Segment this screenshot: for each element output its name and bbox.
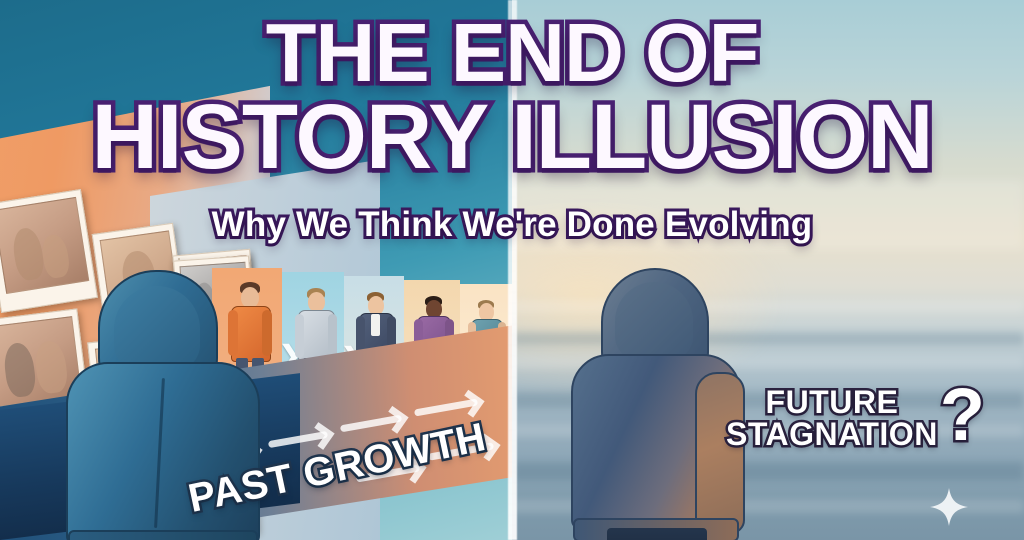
panel-divider bbox=[508, 0, 517, 540]
sparkle-star-icon bbox=[928, 486, 970, 528]
hooded-figure-gazing bbox=[567, 268, 747, 540]
future-panel bbox=[512, 0, 1024, 540]
thumbnail-canvas: ❯ ❯ ❯ bbox=[0, 0, 1024, 540]
horizon-haze bbox=[512, 180, 1024, 250]
past-panel: ❯ ❯ ❯ bbox=[0, 0, 512, 540]
hooded-viewer-back bbox=[60, 270, 270, 540]
hood-inner bbox=[615, 282, 693, 360]
hoodie-arm bbox=[695, 372, 745, 534]
trousers bbox=[607, 528, 707, 540]
hood-inner bbox=[114, 286, 200, 370]
hoodie-hem bbox=[68, 530, 258, 540]
